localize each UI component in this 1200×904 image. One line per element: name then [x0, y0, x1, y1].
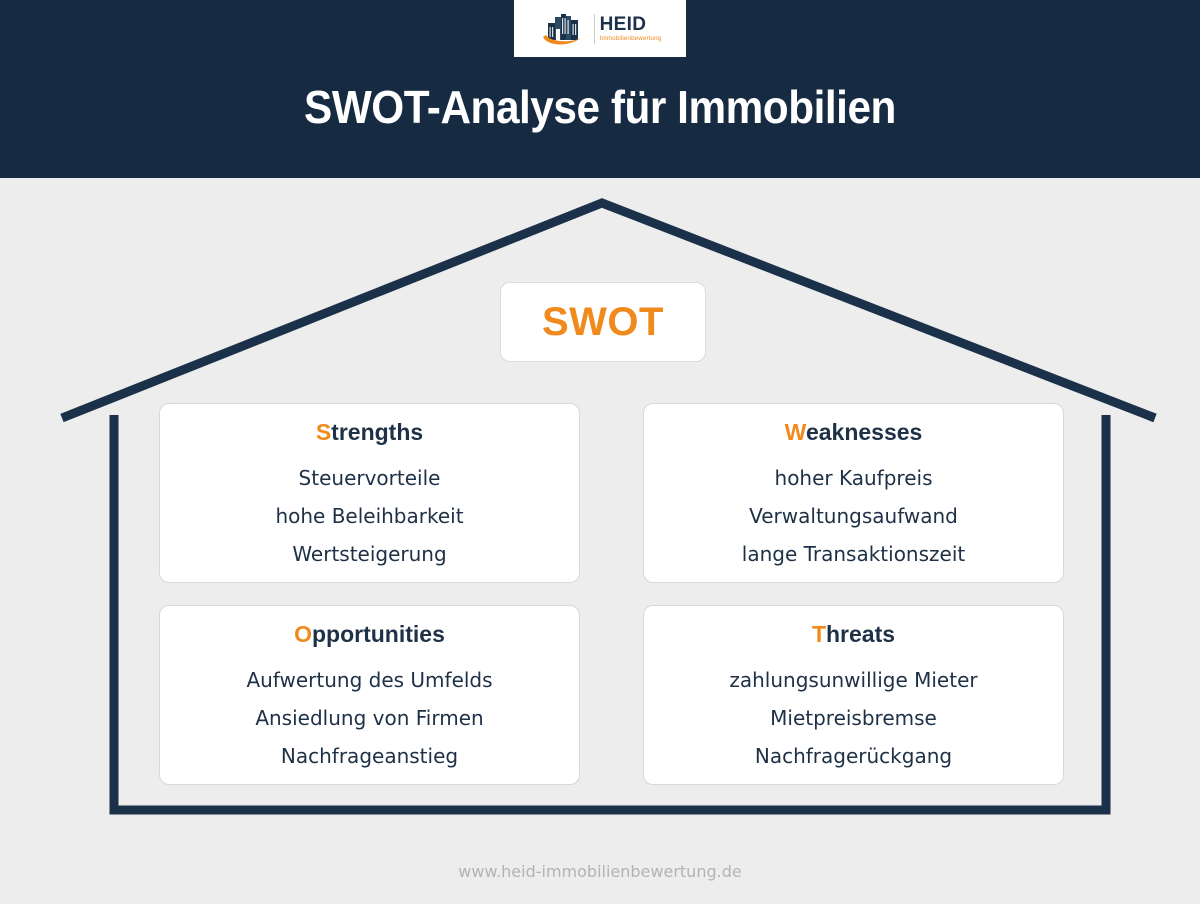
- quadrant-card-weaknesses: Weaknesses hoher Kaufpreis Verwaltungsau…: [643, 403, 1064, 583]
- quadrant-card-strengths: Strengths Steuervorteile hohe Beleihbark…: [159, 403, 580, 583]
- list-item: Steuervorteile: [299, 459, 441, 497]
- page-title: SWOT-Analyse für Immobilien: [48, 80, 1152, 134]
- swot-center-badge: SWOT: [500, 282, 706, 362]
- list-item: Mietpreisbremse: [770, 699, 937, 737]
- quadrant-title-rest: hreats: [826, 621, 895, 647]
- swot-badge-label: SWOT: [542, 300, 664, 345]
- footer-website-url[interactable]: www.heid-immobilienbewertung.de: [0, 862, 1200, 881]
- quadrant-title-threats: Threats: [812, 621, 895, 648]
- list-item: zahlungsunwillige Mieter: [729, 661, 977, 699]
- quadrant-card-threats: Threats zahlungsunwillige Mieter Mietpre…: [643, 605, 1064, 785]
- quadrant-title-strengths: Strengths: [316, 419, 423, 446]
- logo-divider: [594, 14, 595, 44]
- quadrant-title-opportunities: Opportunities: [294, 621, 445, 648]
- list-item: Nachfrageanstieg: [281, 737, 458, 775]
- quadrant-title-initial: O: [294, 621, 312, 647]
- quadrant-title-rest: trengths: [331, 419, 423, 445]
- quadrant-items-strengths: Steuervorteile hohe Beleihbarkeit Wertst…: [275, 459, 463, 573]
- quadrant-items-opportunities: Aufwertung des Umfelds Ansiedlung von Fi…: [246, 661, 492, 775]
- list-item: hoher Kaufpreis: [775, 459, 933, 497]
- list-item: Wertsteigerung: [292, 535, 446, 573]
- quadrant-title-rest: pportunities: [312, 621, 445, 647]
- quadrant-title-initial: W: [785, 419, 806, 445]
- quadrant-items-threats: zahlungsunwillige Mieter Mietpreisbremse…: [729, 661, 977, 775]
- list-item: hohe Beleihbarkeit: [275, 497, 463, 535]
- quadrant-title-rest: eaknesses: [806, 419, 922, 445]
- list-item: Ansiedlung von Firmen: [255, 699, 483, 737]
- quadrant-card-opportunities: Opportunities Aufwertung des Umfelds Ans…: [159, 605, 580, 785]
- list-item: lange Transaktionszeit: [742, 535, 965, 573]
- building-logo-icon: [539, 9, 589, 49]
- quadrant-title-weaknesses: Weaknesses: [785, 419, 923, 446]
- page-header: HEID Immobilienbewertung SWOT-Analyse fü…: [0, 0, 1200, 178]
- logo-tagline: Immobilienbewertung: [600, 36, 662, 42]
- brand-logo[interactable]: HEID Immobilienbewertung: [514, 0, 686, 57]
- list-item: Aufwertung des Umfelds: [246, 661, 492, 699]
- list-item: Nachfragerückgang: [755, 737, 952, 775]
- logo-wordmark: HEID: [600, 15, 662, 34]
- quadrant-title-initial: T: [812, 621, 826, 647]
- quadrant-title-initial: S: [316, 419, 331, 445]
- quadrant-items-weaknesses: hoher Kaufpreis Verwaltungsaufwand lange…: [742, 459, 965, 573]
- list-item: Verwaltungsaufwand: [749, 497, 958, 535]
